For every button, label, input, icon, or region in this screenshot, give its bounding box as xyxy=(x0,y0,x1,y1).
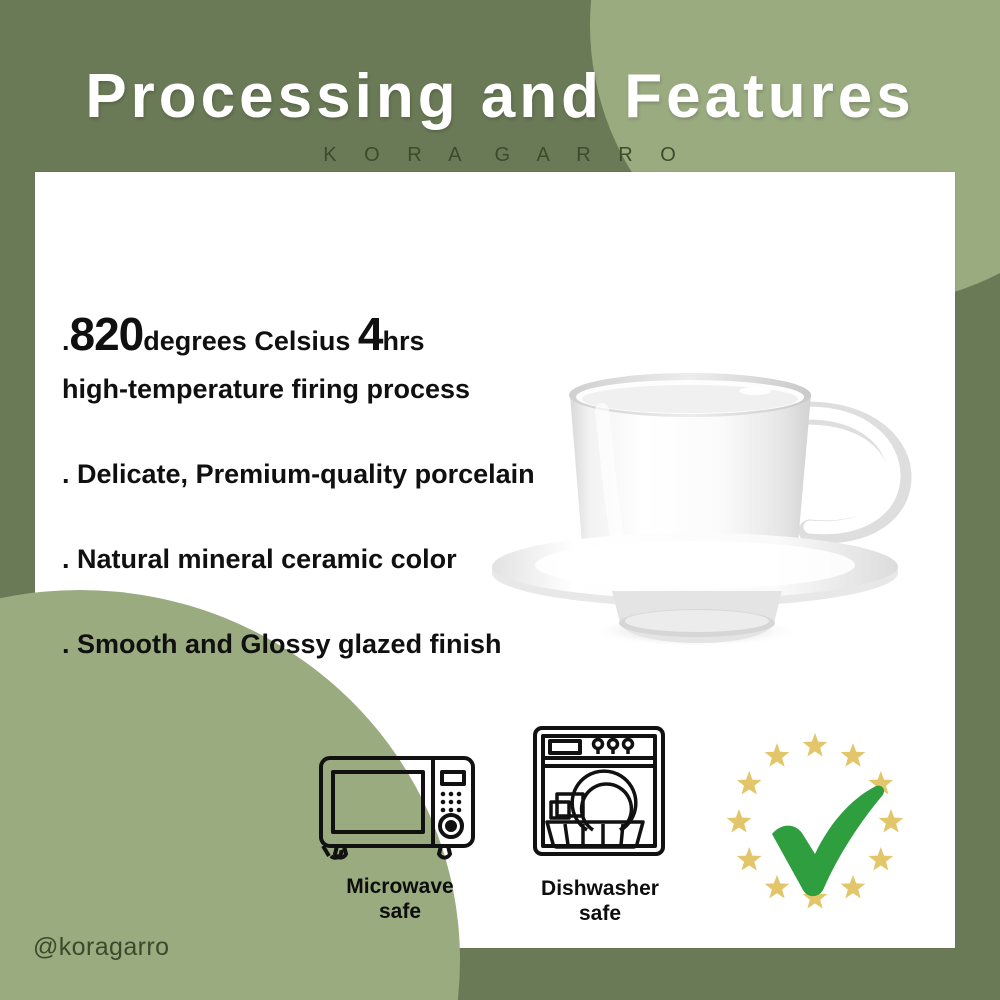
brand-name-right: G A R R O xyxy=(494,144,686,166)
badge-dishwasher-label: Dishwasher safe xyxy=(500,877,700,927)
page-title: Processing and Features xyxy=(0,0,1000,128)
feature-item-ceramic-color: . Natural mineral ceramic color xyxy=(62,544,582,575)
safety-badge-row: Microwave safe xyxy=(300,722,940,932)
eu-check-badge-icon xyxy=(720,730,910,915)
firing-duration-unit: hrs xyxy=(382,326,424,356)
poster-canvas: Processing and Features K O R AG A R R O xyxy=(0,0,1000,1000)
watermark-handle: @koragarro xyxy=(33,933,169,962)
brand-name: K O R AG A R R O xyxy=(0,128,1000,167)
dishwasher-icon xyxy=(525,722,675,862)
feature-item-porcelain: . Delicate, Premium-quality porcelain xyxy=(62,459,582,490)
brand-name-left: K O R A xyxy=(323,144,472,166)
firing-process-label: high-temperature firing process xyxy=(62,374,582,405)
poster-header: Processing and Features K O R AG A R R O xyxy=(0,0,1000,167)
feature-item-glazed-finish: . Smooth and Glossy glazed finish xyxy=(62,629,582,660)
firing-temperature-value: 820 xyxy=(70,308,144,360)
firing-temperature-unit: degrees Celsius xyxy=(143,326,350,356)
badge-microwave-safe: Microwave safe xyxy=(300,722,500,925)
feature-list: .820degrees Celsius 4hrs high-temperatur… xyxy=(62,310,582,660)
feature-firing-headline: .820degrees Celsius 4hrs xyxy=(62,310,582,358)
badge-microwave-label: Microwave safe xyxy=(300,875,500,925)
feature-bullet: . xyxy=(62,326,70,356)
badge-dishwasher-safe: Dishwasher safe xyxy=(500,722,700,927)
badge-eu-certification: (function(){ var g = document.getElement… xyxy=(700,722,920,920)
firing-duration-value: 4 xyxy=(358,308,383,360)
microwave-icon xyxy=(315,750,485,860)
